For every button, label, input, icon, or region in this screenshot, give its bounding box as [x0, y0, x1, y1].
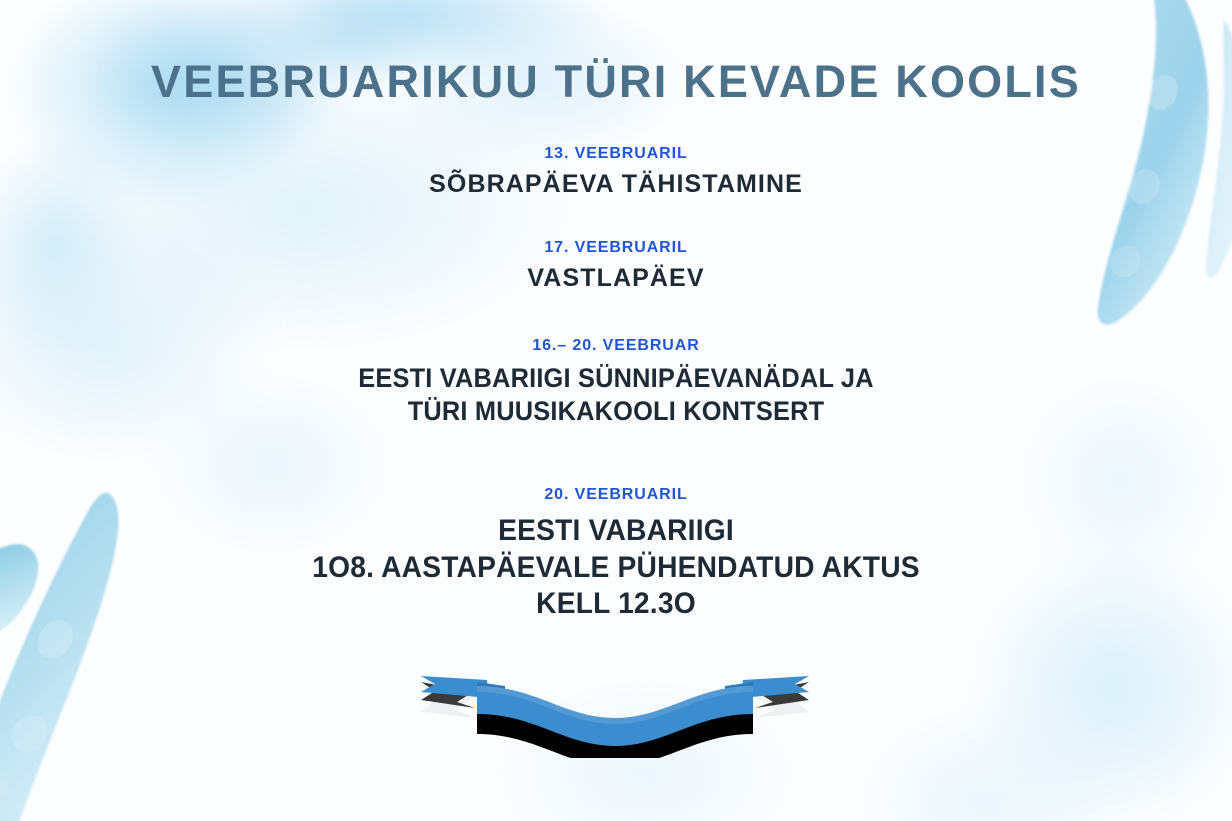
page-title: VEEBRUARIKUU TÜRI KEVADE KOOLIS — [0, 57, 1232, 107]
event-item-sunnipaev: 16.– 20. VEEBRUAR EESTI VABARIIGI SÜNNIP… — [0, 335, 1232, 427]
event-title: VASTLAPÄEV — [0, 263, 1232, 294]
event-date: 16.– 20. VEEBRUAR — [0, 335, 1232, 357]
estonian-flag-ribbon-icon — [415, 668, 815, 758]
event-title: EESTI VABARIIGI 1O8. AASTAPÄEVALE PÜHEND… — [37, 513, 1195, 623]
event-item-sobrapaev: 13. VEEBRUARIL SÕBRAPÄEVA TÄHISTAMINE — [0, 143, 1232, 199]
event-title-line: KELL 12.3O — [37, 586, 1195, 623]
event-title: SÕBRAPÄEVA TÄHISTAMINE — [0, 169, 1232, 200]
event-title-line: VASTLAPÄEV — [0, 263, 1232, 294]
event-date: 13. VEEBRUARIL — [0, 143, 1232, 165]
event-title-line: EESTI VABARIIGI — [37, 513, 1195, 550]
event-title-line: TÜRI MUUSIKAKOOLI KONTSERT — [37, 395, 1195, 428]
event-item-vastlapaev: 17. VEEBRUARIL VASTLAPÄEV — [0, 237, 1232, 293]
poster-canvas: VEEBRUARIKUU TÜRI KEVADE KOOLIS 13. VEEB… — [0, 0, 1232, 821]
event-title-line: 1O8. AASTAPÄEVALE PÜHENDATUD AKTUS — [37, 550, 1195, 587]
event-list: 13. VEEBRUARIL SÕBRAPÄEVA TÄHISTAMINE 17… — [0, 143, 1232, 623]
event-title-line: SÕBRAPÄEVA TÄHISTAMINE — [0, 169, 1232, 200]
event-date: 17. VEEBRUARIL — [0, 237, 1232, 259]
event-title-line: EESTI VABARIIGI SÜNNIPÄEVANÄDAL JA — [37, 362, 1195, 395]
event-title: EESTI VABARIIGI SÜNNIPÄEVANÄDAL JA TÜRI … — [37, 362, 1195, 428]
event-date: 20. VEEBRUARIL — [0, 484, 1232, 506]
event-item-aktus: 20. VEEBRUARIL EESTI VABARIIGI 1O8. AAST… — [0, 484, 1232, 623]
